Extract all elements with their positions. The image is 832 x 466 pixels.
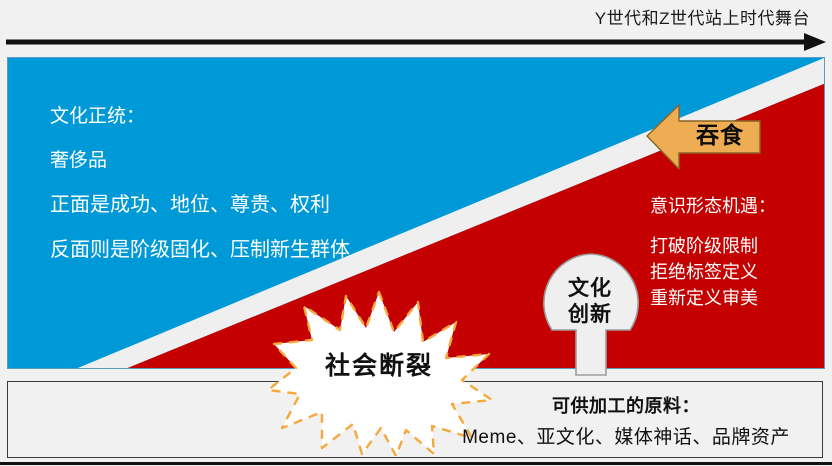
culture-innovation-callout: 文化 创新: [540, 252, 642, 377]
left-panel-heading: 文化正统：: [50, 105, 350, 129]
eat-arrow-label: 吞食: [681, 117, 759, 153]
callout-label: 文化 创新: [540, 276, 640, 328]
raw-material-text: 可供加工的原料： Meme、亚文化、媒体神话、品牌资产: [430, 392, 822, 449]
timeline-arrow: [6, 30, 826, 54]
slide-canvas: Y世代和Z世代站上时代舞台 文化正统： 奢侈品 正面是成功、地位、尊贵、权利 反…: [0, 0, 832, 466]
left-panel-line-1: 奢侈品: [50, 149, 350, 173]
right-panel-line-3: 重新定义审美: [650, 285, 776, 311]
bottom-divider: [0, 462, 832, 465]
right-panel-heading: 意识形态机遇：: [650, 193, 776, 219]
left-panel-line-3: 反面则是阶级固化、压制新生群体: [50, 238, 350, 263]
left-panel-line-2: 正面是成功、地位、尊贵、权利: [50, 193, 350, 218]
eat-arrow-shape: 吞食: [645, 101, 762, 171]
left-panel-text: 文化正统： 奢侈品 正面是成功、地位、尊贵、权利 反面则是阶级固化、压制新生群体: [50, 105, 350, 263]
right-panel-line-1: 打破阶级限制: [650, 233, 776, 259]
callout-line-2: 创新: [540, 302, 640, 328]
right-panel-text: 意识形态机遇： 打破阶级限制 拒绝标签定义 重新定义审美: [650, 193, 776, 311]
raw-material-heading: 可供加工的原料：: [430, 392, 822, 418]
right-panel-line-2: 拒绝标签定义: [650, 259, 776, 285]
page-title: Y世代和Z世代站上时代舞台: [595, 4, 810, 29]
starburst-label: 社会断裂: [266, 346, 492, 382]
callout-line-1: 文化: [540, 276, 640, 302]
right-arrow-icon: [6, 30, 826, 54]
raw-material-subtext: Meme、亚文化、媒体神话、品牌资产: [430, 422, 822, 449]
